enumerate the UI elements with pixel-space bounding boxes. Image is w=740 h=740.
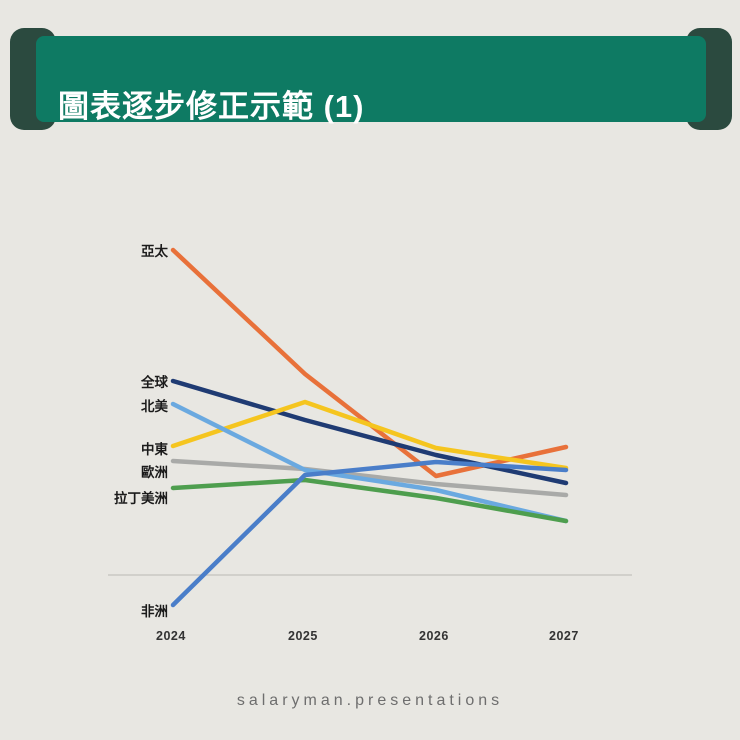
series-label-north-america: 北美	[58, 395, 168, 415]
chart-canvas: 亞太 全球 北美 中東 歐洲 拉丁美洲 非洲 2024 2025 2026 20…	[0, 150, 740, 670]
series-line-asia-pacific	[173, 250, 566, 476]
x-tick-2027: 2027	[549, 629, 579, 643]
x-tick-2025: 2025	[288, 629, 318, 643]
footer-brand: salaryman.presentations	[0, 692, 740, 710]
x-tick-2024: 2024	[156, 629, 186, 643]
x-tick-2026: 2026	[419, 629, 449, 643]
series-label-global: 全球	[58, 371, 168, 391]
page-title: 圖表逐步修正示範 (1)	[58, 81, 365, 126]
series-label-asia-pacific: 亞太	[58, 240, 168, 260]
series-label-middle-east: 中東	[58, 438, 168, 458]
series-line-latin-america	[173, 480, 566, 521]
series-label-europe: 歐洲	[58, 461, 168, 481]
series-label-africa: 非洲	[58, 600, 168, 620]
series-label-latin-america: 拉丁美洲	[48, 487, 168, 507]
header-banner: 圖表逐步修正示範 (1)	[0, 28, 740, 130]
